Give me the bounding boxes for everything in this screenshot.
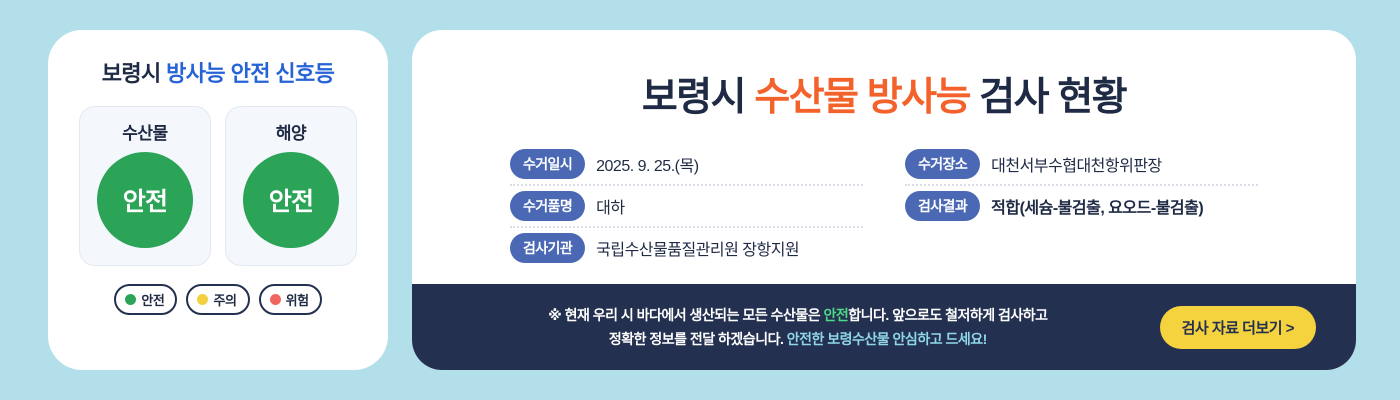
legend-item-safe: 안전 xyxy=(114,284,177,315)
detail-row-collection-place: 수거장소 대천서부수협대천항위판장 xyxy=(905,144,1258,186)
page-title: 보령시 수산물 방사능 검사 현황 xyxy=(452,66,1316,122)
detail-value: 대천서부수협대천항위판장 xyxy=(991,152,1162,176)
panel-body: 보령시 수산물 방사능 검사 현황 수거일시 2025. 9. 25.(목) 수… xyxy=(412,30,1356,284)
detail-badge: 수거품명 xyxy=(510,191,585,221)
detail-column-left: 수거일시 2025. 9. 25.(목) 수거품명 대하 검사기관 국립수산물품… xyxy=(510,144,863,268)
legend-dot-red-icon xyxy=(270,294,281,305)
inspection-detail-grid: 수거일시 2025. 9. 25.(목) 수거품명 대하 검사기관 국립수산물품… xyxy=(452,144,1316,268)
signal-light-seafood: 수산물 안전 xyxy=(79,106,211,266)
detail-value: 국립수산물품질관리원 장항지원 xyxy=(596,236,799,260)
detail-value: 적합(세슘-불검출, 요오드-불검출) xyxy=(991,194,1203,218)
panel-title-prefix: 보령시 xyxy=(642,76,745,119)
signal-light-label: 수산물 xyxy=(122,119,167,144)
signal-legend: 안전 주의 위험 xyxy=(114,284,321,315)
panel-title-highlight: 수산물 방사능 xyxy=(754,76,970,119)
legend-label: 위험 xyxy=(286,290,309,309)
detail-row-inspection-result: 검사결과 적합(세슘-불검출, 요오드-불검출) xyxy=(905,186,1258,226)
panel-footer: ※ 현재 우리 시 바다에서 생산되는 모든 수산물은 안전합니다. 앞으로도 … xyxy=(412,284,1356,370)
detail-value: 대하 xyxy=(596,194,624,218)
footer-line2-part1: 정확한 정보를 전달 하겠습니다. xyxy=(609,331,787,347)
detail-row-item-name: 수거품명 대하 xyxy=(510,186,863,228)
signal-status-indicator: 안전 xyxy=(243,152,339,248)
footer-line2-aqua: 안전한 보령수산물 안심하고 드세요! xyxy=(787,331,987,347)
legend-item-danger: 위험 xyxy=(259,284,322,315)
detail-column-right: 수거장소 대천서부수협대천항위판장 검사결과 적합(세슘-불검출, 요오드-불검… xyxy=(905,144,1258,268)
signal-title-accent: 방사능 안전 신호등 xyxy=(166,61,334,86)
signal-light-group: 수산물 안전 해양 안전 xyxy=(79,106,357,266)
legend-dot-green-icon xyxy=(125,294,136,305)
legend-label: 주의 xyxy=(213,290,236,309)
legend-dot-yellow-icon xyxy=(197,294,208,305)
signal-light-label: 해양 xyxy=(276,119,306,144)
detail-badge: 수거일시 xyxy=(510,149,585,179)
inspection-status-panel: 보령시 수산물 방사능 검사 현황 수거일시 2025. 9. 25.(목) 수… xyxy=(412,30,1356,370)
radiation-safety-banner: 보령시 방사능 안전 신호등 수산물 안전 해양 안전 안전 주의 xyxy=(0,0,1400,400)
footer-line1-safe: 안전 xyxy=(824,307,849,323)
detail-badge: 검사기관 xyxy=(510,233,585,263)
detail-value: 2025. 9. 25.(목) xyxy=(596,152,698,176)
signal-card-title: 보령시 방사능 안전 신호등 xyxy=(102,56,335,88)
legend-label: 안전 xyxy=(141,290,164,309)
more-inspection-data-button[interactable]: 검사 자료 더보기 > xyxy=(1160,306,1316,349)
panel-title-suffix: 검사 현황 xyxy=(979,76,1126,119)
signal-light-card: 보령시 방사능 안전 신호등 수산물 안전 해양 안전 안전 주의 xyxy=(48,30,388,370)
footer-line1-part1: ※ 현재 우리 시 바다에서 생산되는 모든 수산물은 xyxy=(548,307,823,323)
detail-row-spacer xyxy=(905,226,1258,264)
footer-notice: ※ 현재 우리 시 바다에서 생산되는 모든 수산물은 안전합니다. 앞으로도 … xyxy=(446,303,1160,352)
detail-row-collection-date: 수거일시 2025. 9. 25.(목) xyxy=(510,144,863,186)
footer-line1-part2: 합니다. 앞으로도 철저하게 검사하고 xyxy=(848,307,1047,323)
detail-badge: 검사결과 xyxy=(905,191,980,221)
signal-status-indicator: 안전 xyxy=(97,152,193,248)
detail-badge: 수거장소 xyxy=(905,149,980,179)
signal-title-prefix: 보령시 xyxy=(102,61,161,86)
detail-row-inspection-agency: 검사기관 국립수산물품질관리원 장항지원 xyxy=(510,228,863,268)
signal-light-ocean: 해양 안전 xyxy=(225,106,357,266)
legend-item-caution: 주의 xyxy=(186,284,249,315)
